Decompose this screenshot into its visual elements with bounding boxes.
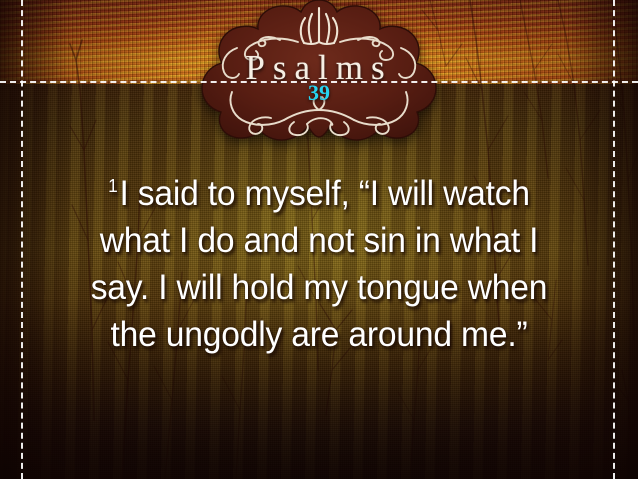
verse-line-1: 1I said to myself, “I will watch	[34, 170, 604, 217]
verse-line-2: what I do and not sin in what I	[34, 217, 604, 264]
verse-line-1-text: I said to myself, “I will watch	[119, 174, 529, 213]
verse-number: 1	[108, 176, 119, 196]
chapter-number-label: 39	[176, 80, 462, 106]
verse-line-4: the ungodly are around me.”	[34, 311, 604, 358]
presentation-slide: Psalms 39 1I said to myself, “I will wat…	[0, 0, 638, 479]
verse-line-3: say. I will hold my tongue when	[34, 264, 604, 311]
scripture-badge: Psalms 39	[176, 0, 462, 144]
verse-text-block: 1I said to myself, “I will watch what I …	[34, 170, 604, 358]
